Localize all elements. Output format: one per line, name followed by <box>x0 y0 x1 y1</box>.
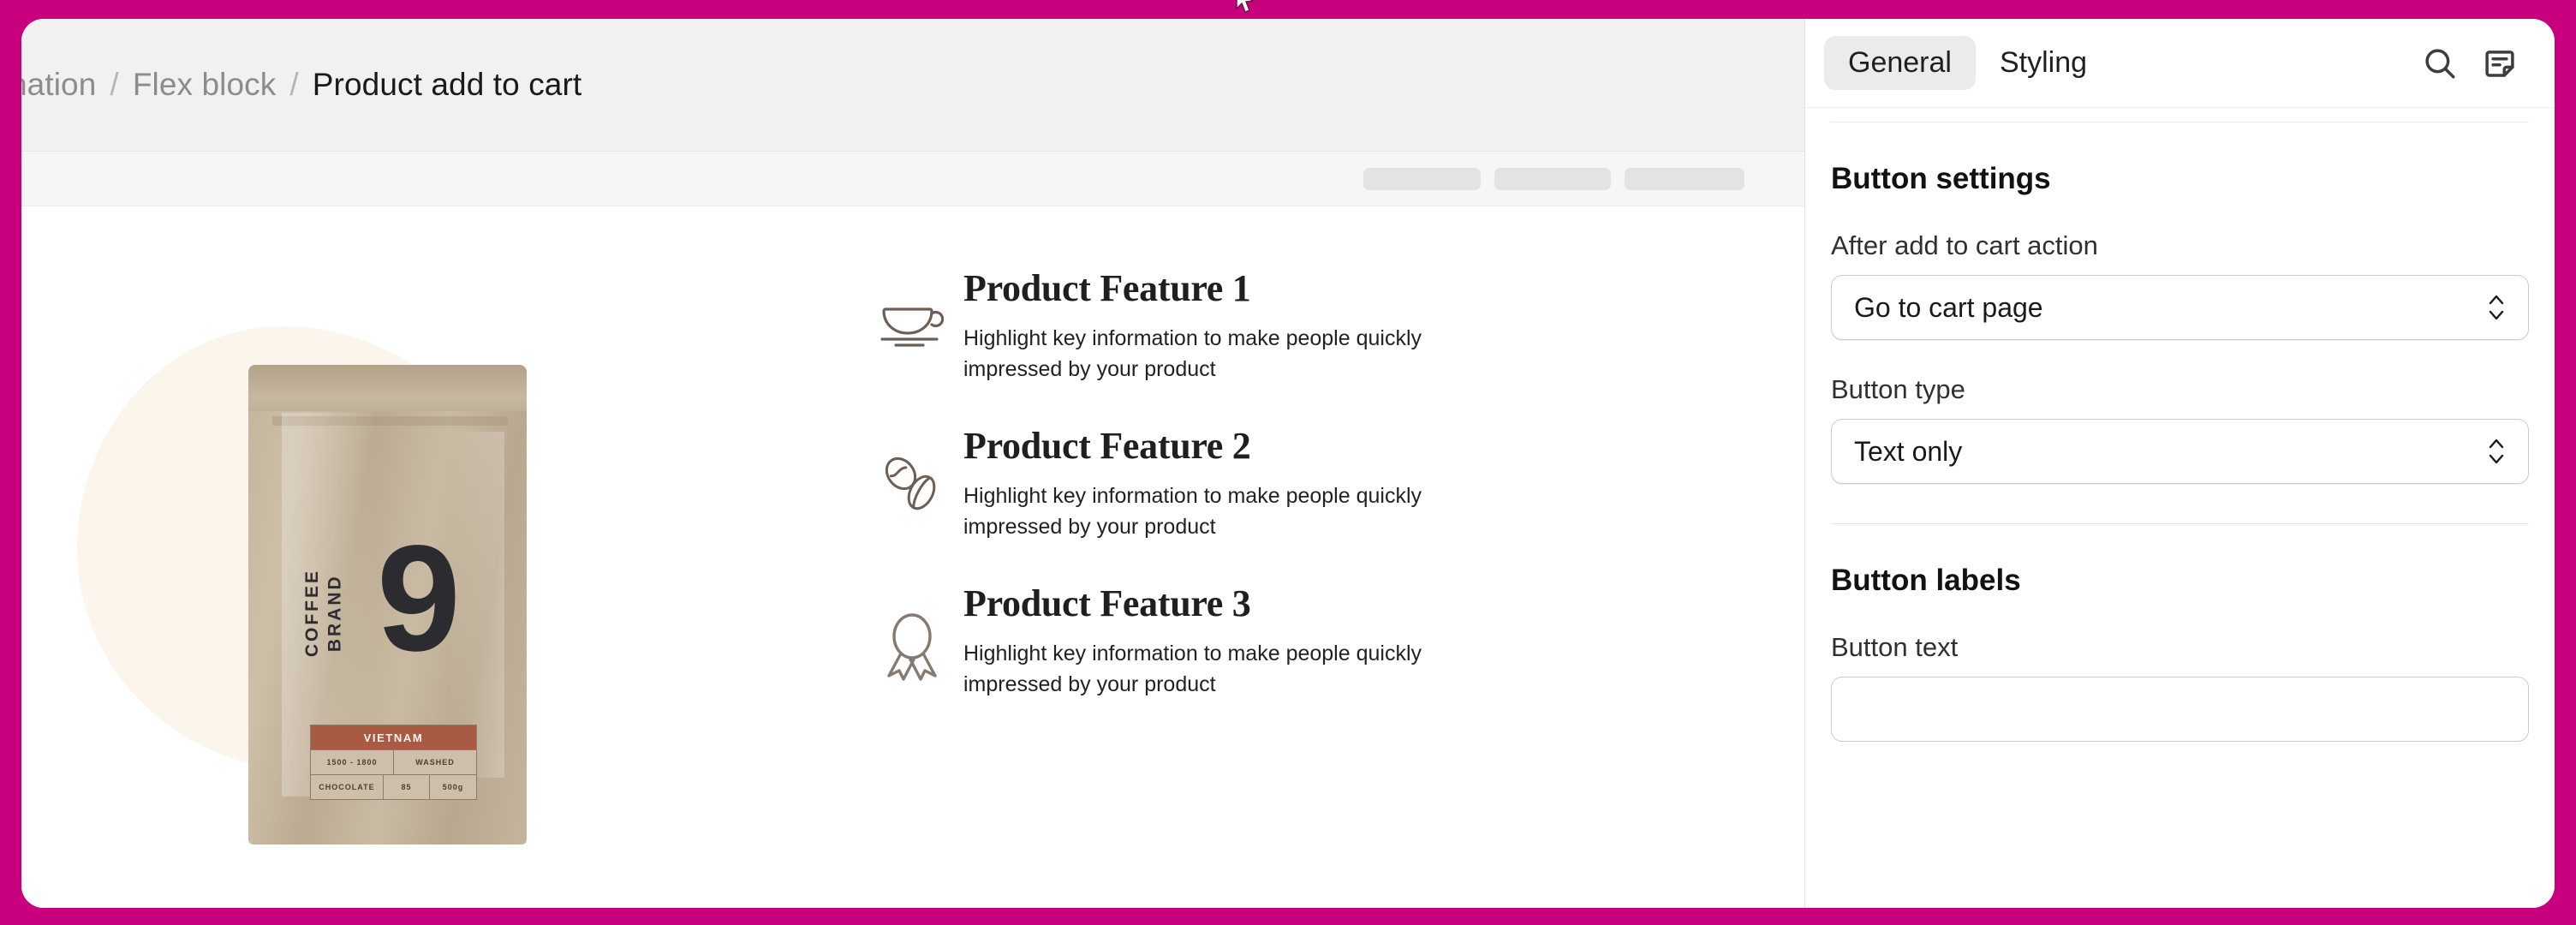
editor-shell: nation / Flex block / Product add to car… <box>21 19 2555 908</box>
feature-description: Highlight key information to make people… <box>963 639 1512 700</box>
label-after-add-to-cart-action: After add to cart action <box>1831 230 2529 261</box>
breadcrumb-item-current: Product add to cart <box>313 67 582 103</box>
breadcrumb-item-1[interactable]: Flex block <box>133 67 277 103</box>
label-button-type: Button type <box>1831 374 2529 405</box>
feature-title: Product Feature 2 <box>963 424 1563 468</box>
select-value: Text only <box>1854 436 2485 468</box>
chevron-updown-icon <box>2485 434 2507 468</box>
bag-label-process: WASHED <box>394 750 476 774</box>
select-button-type[interactable]: Text only <box>1831 419 2529 484</box>
feature-item: Product Feature 3 Highlight key informat… <box>861 582 1804 700</box>
feature-body: Product Feature 3 Highlight key informat… <box>963 582 1563 700</box>
bag-label-row-2: CHOCOLATE 85 500g <box>311 774 476 799</box>
coffee-bag-image[interactable]: COFFEE BRAND 9 VIETNAM 1500 - 1800 WASHE… <box>248 365 527 844</box>
select-after-add-to-cart-action[interactable]: Go to cart page <box>1831 275 2529 340</box>
tab-styling[interactable]: Styling <box>1976 36 2111 90</box>
input-button-text[interactable] <box>1831 677 2529 742</box>
product-image-area: COFFEE BRAND 9 VIETNAM 1500 - 1800 WASHE… <box>21 206 861 908</box>
feature-title: Product Feature 3 <box>963 582 1563 625</box>
breadcrumb-separator: / <box>110 67 118 103</box>
breadcrumb: nation / Flex block / Product add to car… <box>21 67 581 103</box>
coffee-cup-icon <box>861 266 963 349</box>
tab-general[interactable]: General <box>1824 36 1976 90</box>
chevron-updown-icon <box>2485 290 2507 325</box>
settings-panel: General Styling Button setting <box>1804 19 2555 908</box>
section-heading-button-labels: Button labels <box>1831 564 2529 598</box>
bag-label-origin: VIETNAM <box>311 725 476 749</box>
panel-tab-bar: General Styling <box>1805 19 2555 108</box>
canvas-preview-pane: nation / Flex block / Product add to car… <box>21 19 1804 908</box>
select-value: Go to cart page <box>1854 292 2485 324</box>
preview-toolbar-strip <box>21 152 1804 206</box>
feature-item: Product Feature 2 Highlight key informat… <box>861 424 1804 542</box>
award-ribbon-icon <box>861 582 963 681</box>
panel-top-divider <box>1831 122 2529 122</box>
feature-body: Product Feature 1 Highlight key informat… <box>963 266 1563 385</box>
feature-item: Product Feature 1 Highlight key informat… <box>861 266 1804 385</box>
feature-description: Highlight key information to make people… <box>963 481 1512 542</box>
breadcrumb-separator: / <box>289 67 298 103</box>
bag-label-row-1: 1500 - 1800 WASHED <box>311 749 476 774</box>
bag-label-weight: 500g <box>430 775 476 799</box>
breadcrumb-item-0[interactable]: nation <box>21 67 96 103</box>
bag-info-label: VIETNAM 1500 - 1800 WASHED CHOCOLATE 85 … <box>310 725 477 800</box>
bag-label-altitude: 1500 - 1800 <box>311 750 394 774</box>
bag-label-notes: CHOCOLATE <box>311 775 384 799</box>
bag-number: 9 <box>377 534 461 664</box>
mouse-cursor <box>1235 0 1257 15</box>
bag-brand-line-2: BRAND <box>325 574 344 652</box>
skeleton-placeholder-2 <box>1494 168 1611 190</box>
product-add-to-cart-block: COFFEE BRAND 9 VIETNAM 1500 - 1800 WASHE… <box>21 206 1804 908</box>
bag-seal-strip <box>272 416 508 426</box>
feature-title: Product Feature 1 <box>963 266 1563 310</box>
panel-content[interactable]: Button settings After add to cart action… <box>1805 108 2555 908</box>
label-button-text: Button text <box>1831 632 2529 663</box>
section-heading-button-settings: Button settings <box>1831 162 2529 196</box>
skeleton-placeholder-1 <box>1363 168 1481 190</box>
feature-body: Product Feature 2 Highlight key informat… <box>963 424 1563 542</box>
search-icon[interactable] <box>2416 39 2464 87</box>
skeleton-placeholder-3 <box>1625 168 1744 190</box>
product-features-list: Product Feature 1 Highlight key informat… <box>861 206 1804 908</box>
feature-description: Highlight key information to make people… <box>963 324 1512 385</box>
bag-label-score: 85 <box>384 775 430 799</box>
note-icon[interactable] <box>2476 39 2524 87</box>
bag-brand-text: COFFEE BRAND <box>301 569 347 657</box>
bag-brand-line-1: COFFEE <box>302 569 322 657</box>
coffee-beans-icon <box>861 424 963 516</box>
bag-top-fold <box>248 365 527 411</box>
section-divider <box>1831 523 2529 524</box>
breadcrumb-bar: nation / Flex block / Product add to car… <box>21 19 1804 152</box>
